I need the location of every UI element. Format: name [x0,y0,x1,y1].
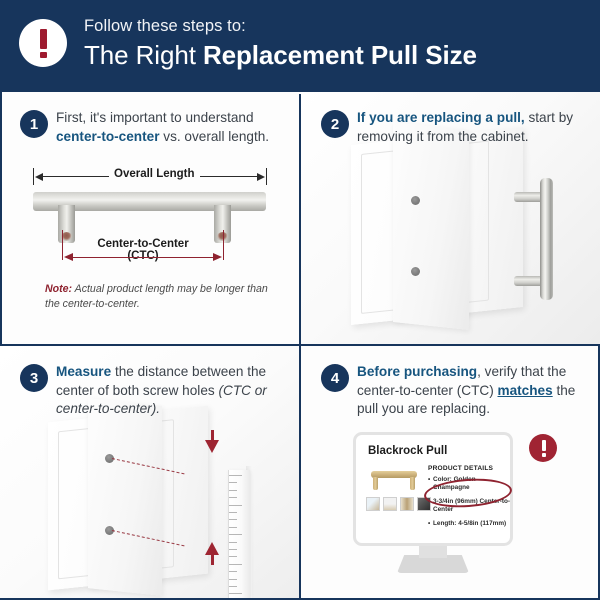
thumbnail-3[interactable] [400,497,414,511]
ruler-tick [229,490,237,491]
thumbnail-1[interactable] [366,497,380,511]
ruler-tick [229,534,242,535]
ruler-tick [229,564,242,565]
product-details-heading: PRODUCT DETAILS [428,465,512,472]
door-stile [88,398,162,596]
ctc-dimension: Center-to-Center (CTC) [62,238,224,266]
note-body: Actual product length may be longer than… [45,283,268,310]
arrow-right-icon [257,173,265,181]
ruler-tick [229,549,237,550]
pull-dimension-diagram: Overall Length Center-to-Center (CTC) [0,164,299,274]
step-panel-4: 4 Before purchasing, verify that the cen… [301,346,600,598]
ruler-tick [229,482,237,483]
step-badge-1: 1 [20,110,48,138]
title-light: The Right [84,40,203,70]
step-panel-3: 3 Measure the distance between the cente… [0,346,299,598]
header-eyebrow: Follow these steps to: [84,17,246,36]
ruler-tick [229,512,237,513]
ctc-label-line2: (CTC) [62,250,224,262]
monitor-screen: Blackrock Pull PRODUCT DETAILS Color: Go… [353,432,513,546]
screw-hole-top [411,196,420,205]
steps-grid: 1 First, it's important to understand ce… [0,92,600,600]
ruler-tick [229,505,242,506]
ctc-arrow-right-icon [213,253,222,261]
step-badge-3: 3 [20,364,48,392]
note-prefix: Note: [45,283,72,295]
step4-bold: Before purchasing [357,364,477,379]
ruler [228,470,250,598]
door-stile [393,122,469,330]
ruler-tick [229,542,237,543]
step-panel-2: 2 If you are replacing a pull, start by … [301,92,600,344]
arrow-down-icon [205,440,219,453]
step-text-3: Measure the distance between the center … [56,363,288,419]
step1-tail: vs. overall length. [160,129,270,144]
overall-length-label: Overall Length [109,168,200,180]
step-text-2: If you are replacing a pull, start by re… [357,109,589,146]
step4-matches-link[interactable]: matches [498,383,553,398]
step1-lead: First, it's important to understand [56,110,254,125]
ctc-label-line1: Center-to-Center [62,238,224,250]
step-panel-1: 1 First, it's important to understand ce… [0,92,299,344]
overall-length-dimension: Overall Length [33,168,267,184]
ctc-arrow-left-icon [64,253,73,261]
step2-bold: If you are replacing a pull, [357,110,525,125]
ruler-tick [229,556,237,557]
step-badge-4: 4 [321,364,349,392]
screw-hole-bottom [411,267,420,276]
title-bold: Replacement Pull Size [203,40,477,70]
exclamation-icon [529,434,557,462]
step1-note: Note: Actual product length may be longe… [45,282,275,312]
arrow-up-icon [205,542,219,555]
header-banner: Follow these steps to: The Right Replace… [0,0,600,92]
ruler-tick [229,571,237,572]
infographic-root: Follow these steps to: The Right Replace… [0,0,600,600]
product-image [368,467,420,493]
step-text-4: Before purchasing, verify that the cente… [357,363,589,419]
bar-pull-hardware [540,178,553,300]
ruler-tick [229,519,237,520]
page-title: The Right Replacement Pull Size [84,40,477,71]
step-text-1: First, it's important to understand cent… [56,109,288,146]
monitor-neck [419,546,447,558]
thumbnail-2[interactable] [383,497,397,511]
arrow-left-icon [35,173,43,181]
ruler-tick [229,527,237,528]
ruler-tick [229,497,237,498]
ruler-tick [229,579,237,580]
ruler-tick [229,586,237,587]
exclamation-icon [19,19,67,67]
step1-bold: center-to-center [56,129,160,144]
step3-bold: Measure [56,364,111,379]
product-detail-item: Length: 4-5/8in (117mm) [428,520,512,528]
product-thumbnails[interactable] [366,497,431,511]
ruler-tick [229,593,242,594]
step-badge-2: 2 [321,110,349,138]
ruler-tick [229,475,242,476]
product-name: Blackrock Pull [368,445,447,457]
